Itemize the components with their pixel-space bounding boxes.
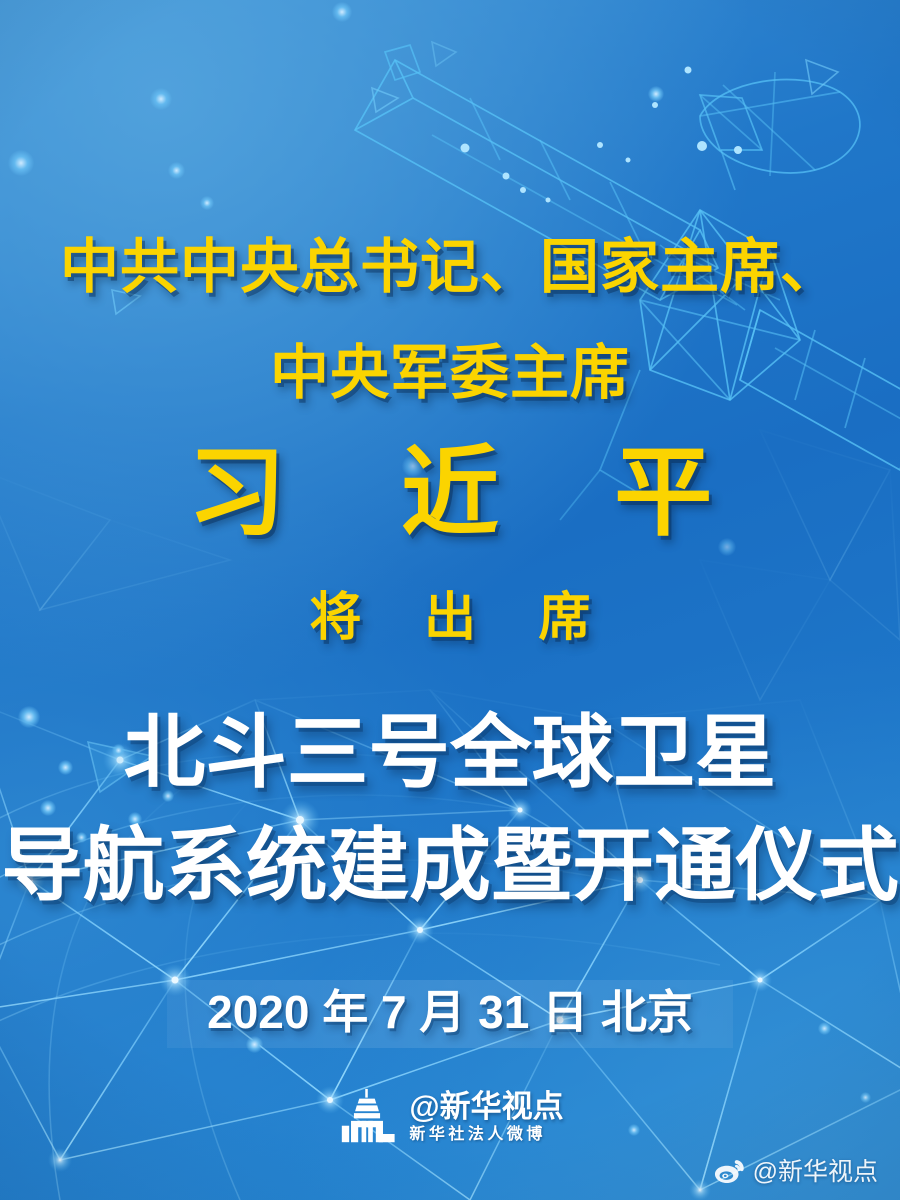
xinhua-subtitle: 新华社法人微博 (409, 1127, 563, 1143)
weibo-icon (712, 1158, 746, 1186)
event-name-line-1: 北斗三号全球卫星 (0, 713, 900, 793)
xinhua-pagoda-logo-icon (336, 1086, 398, 1148)
weibo-watermark: @新华视点 (712, 1158, 878, 1186)
action-text: 将 出 席 (0, 592, 900, 644)
xinhua-logo-text: @新华视点 新华社法人微博 (409, 1091, 563, 1143)
date-place-band: 2020 年 7 月 31 日 北京 (167, 980, 733, 1048)
poster-content: 中共中央总书记、国家主席、 中央军委主席 习 近 平 将 出 席 北斗三号全球卫… (0, 0, 900, 1200)
date-place-text: 2020 年 7 月 31 日 北京 (207, 989, 693, 1035)
title-line-2: 中央军委主席 (0, 344, 900, 403)
weibo-watermark-text: @新华视点 (753, 1160, 878, 1185)
event-name-line-2: 导航系统建成暨开通仪式 (0, 826, 900, 906)
xinhua-handle: @新华视点 (409, 1091, 563, 1122)
title-line-1: 中共中央总书记、国家主席、 (0, 238, 900, 297)
poster-canvas: 中共中央总书记、国家主席、 中央军委主席 习 近 平 将 出 席 北斗三号全球卫… (0, 0, 900, 1200)
date-place-wrapper: 2020 年 7 月 31 日 北京 (0, 980, 900, 1048)
xinhua-logo: @新华视点 新华社法人微博 (0, 1086, 900, 1148)
leader-name: 习 近 平 (0, 443, 900, 541)
